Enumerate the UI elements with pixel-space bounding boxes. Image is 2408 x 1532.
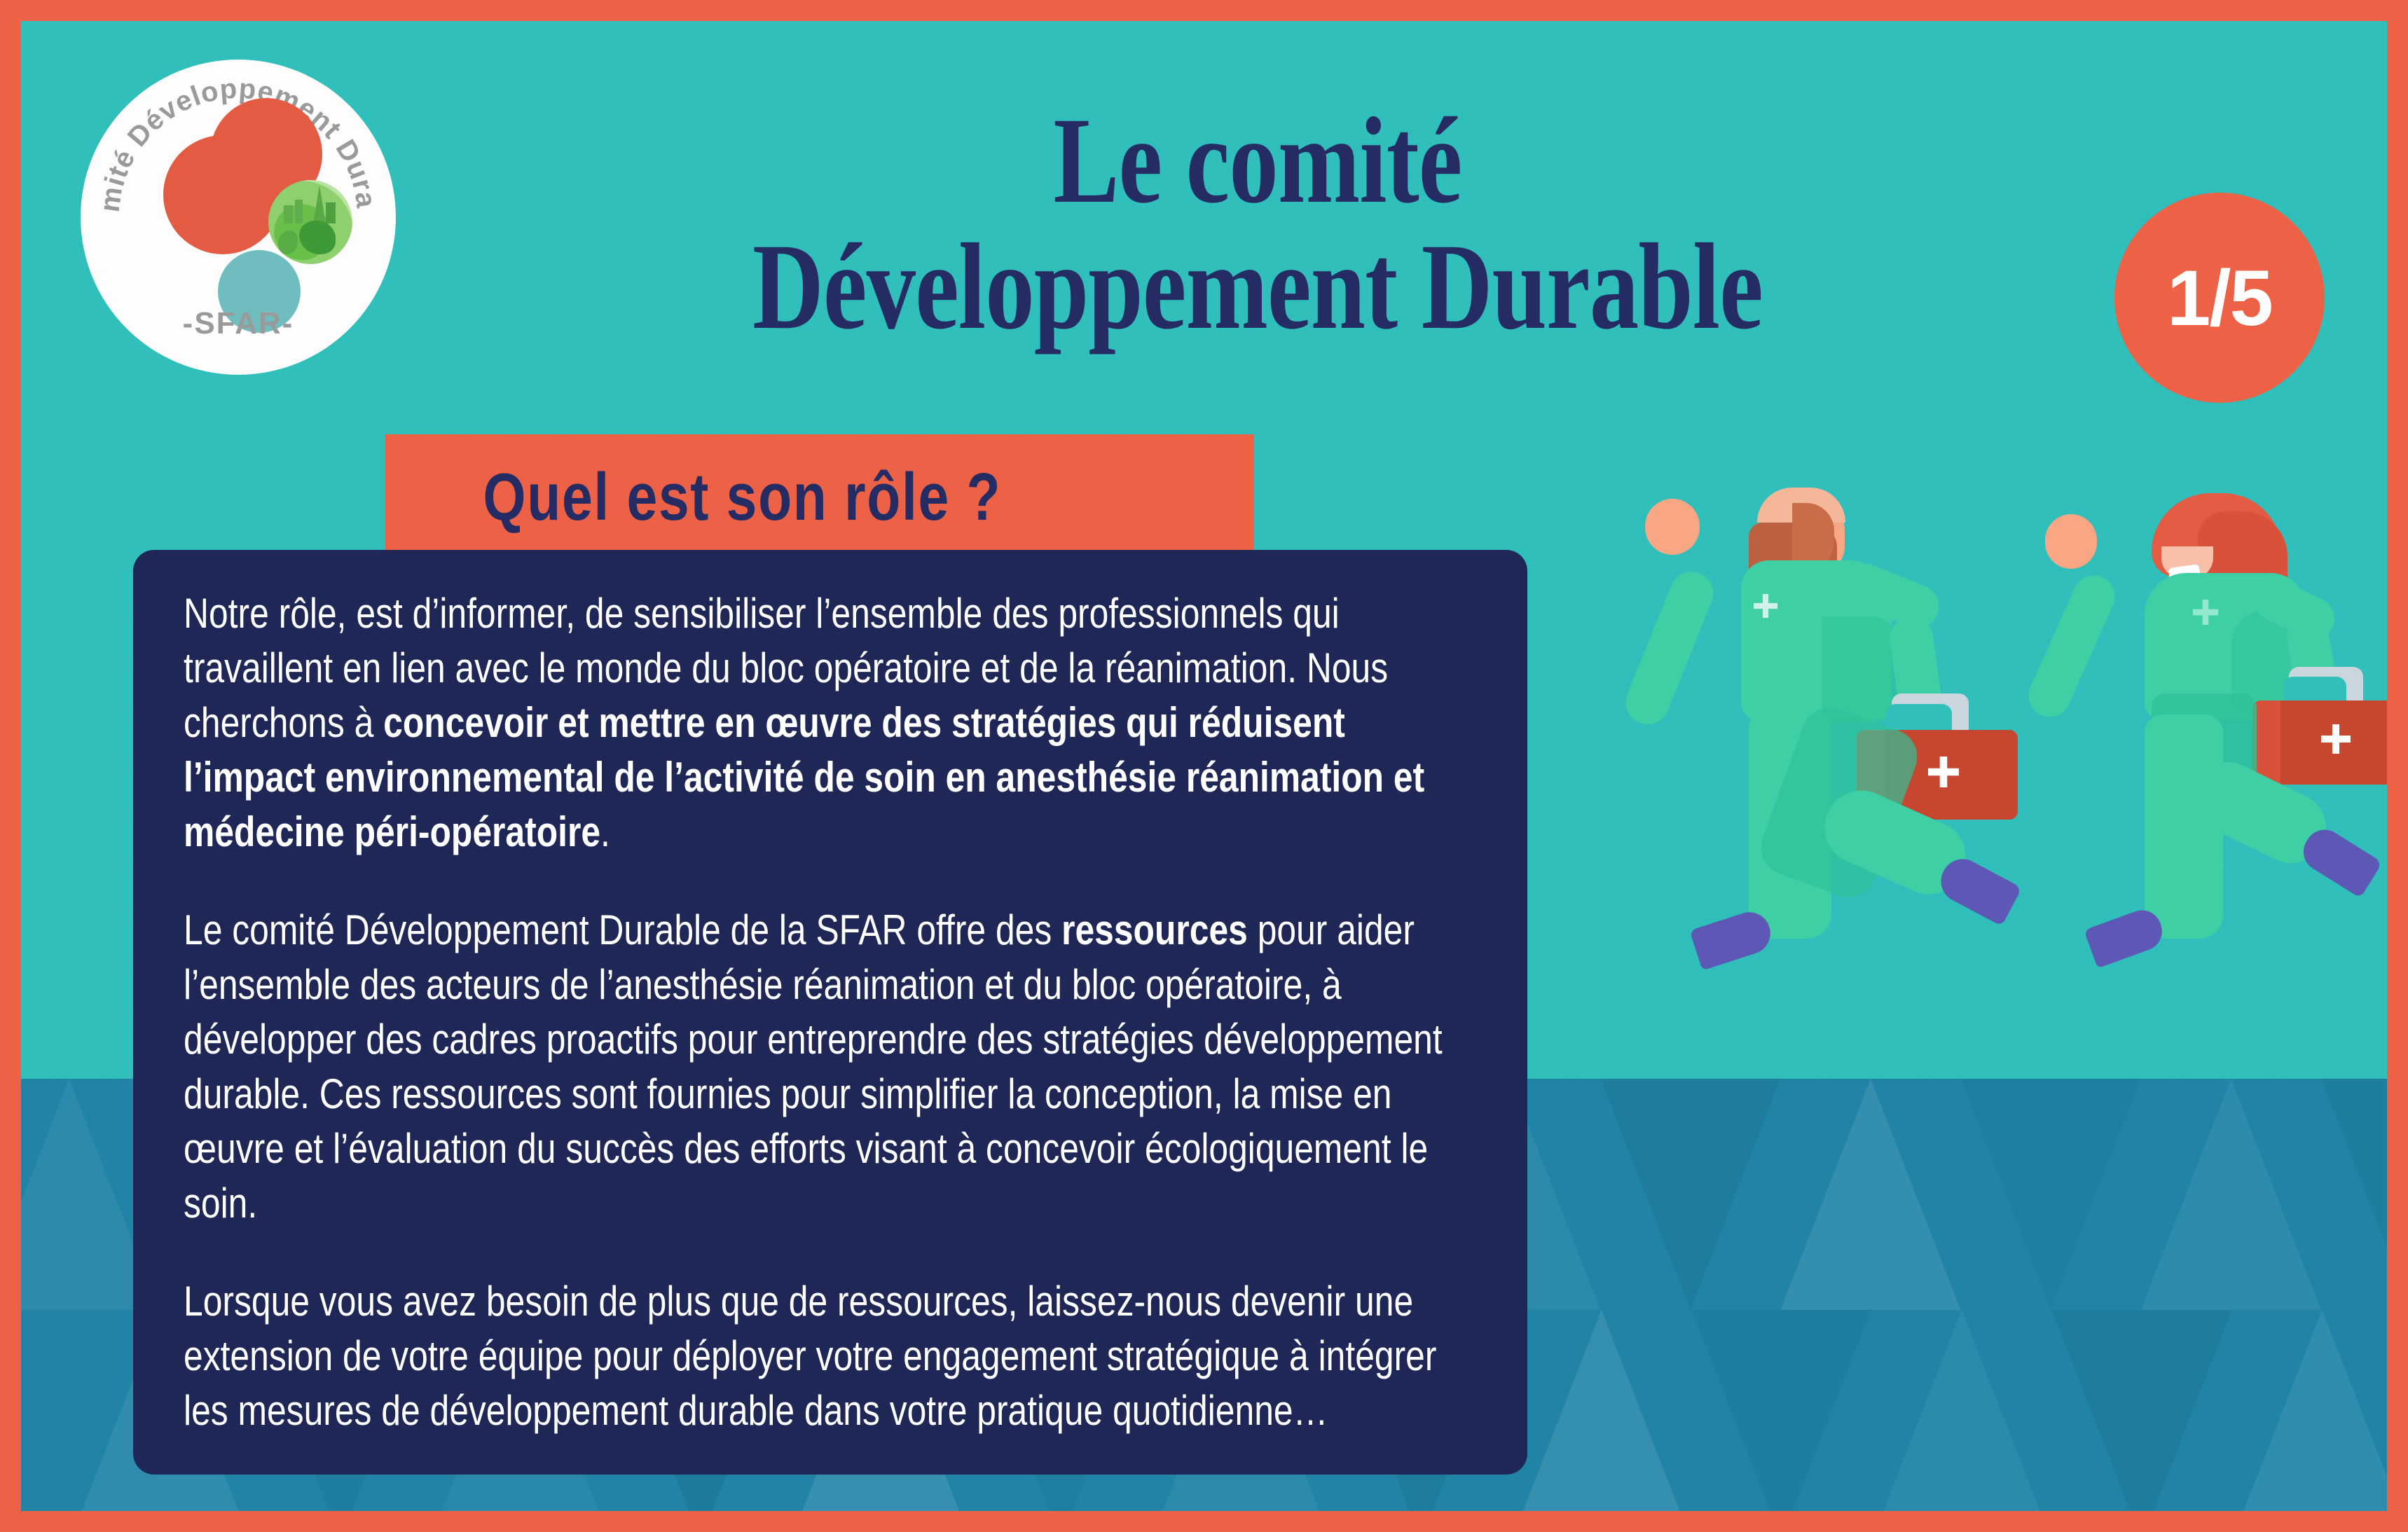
sfar-logo: Comité Développement Durable -SFAR- [81, 60, 396, 375]
slide-canvas: Comité Développement Durable -SFAR- Le c… [21, 21, 2387, 1511]
page-title-line1: Le comité [627, 98, 1888, 224]
eco-globe-icon [268, 180, 352, 264]
paragraph-1-post: . [600, 808, 610, 855]
body-text-card: Notre rôle, est d’informer, de sensibili… [133, 550, 1527, 1475]
paragraph-2-bold: ressources [1061, 906, 1248, 953]
slide-root: Comité Développement Durable -SFAR- Le c… [0, 0, 2408, 1532]
doctor-female-illustration [2021, 483, 2387, 1114]
page-title-line2: Développement Durable [627, 224, 1888, 350]
paragraph-1: Notre rôle, est d’informer, de sensibili… [184, 586, 1466, 860]
section-heading-label: Quel est son rôle ? [385, 459, 1098, 536]
paragraph-2-post: pour aider l’ensemble des acteurs de l’a… [184, 906, 1443, 1227]
section-heading-banner: Quel est son rôle ? [385, 434, 1254, 560]
hand-waving-icon [2045, 514, 2097, 569]
paragraph-3: Lorsque vous avez besoin de plus que de … [184, 1274, 1466, 1438]
page-number-badge: 1/5 [2114, 193, 2325, 403]
page-title: Le comité Développement Durable [627, 98, 1888, 350]
page-number-label: 1/5 [2167, 253, 2272, 343]
paragraph-2: Le comité Développement Durable de la SF… [184, 903, 1466, 1231]
doctor-male-illustration [1611, 483, 2060, 1114]
paragraph-2-pre: Le comité Développement Durable de la SF… [184, 906, 1061, 953]
logo-footer-label: -SFAR- [81, 306, 396, 341]
hand-waving-icon [1645, 499, 1700, 555]
